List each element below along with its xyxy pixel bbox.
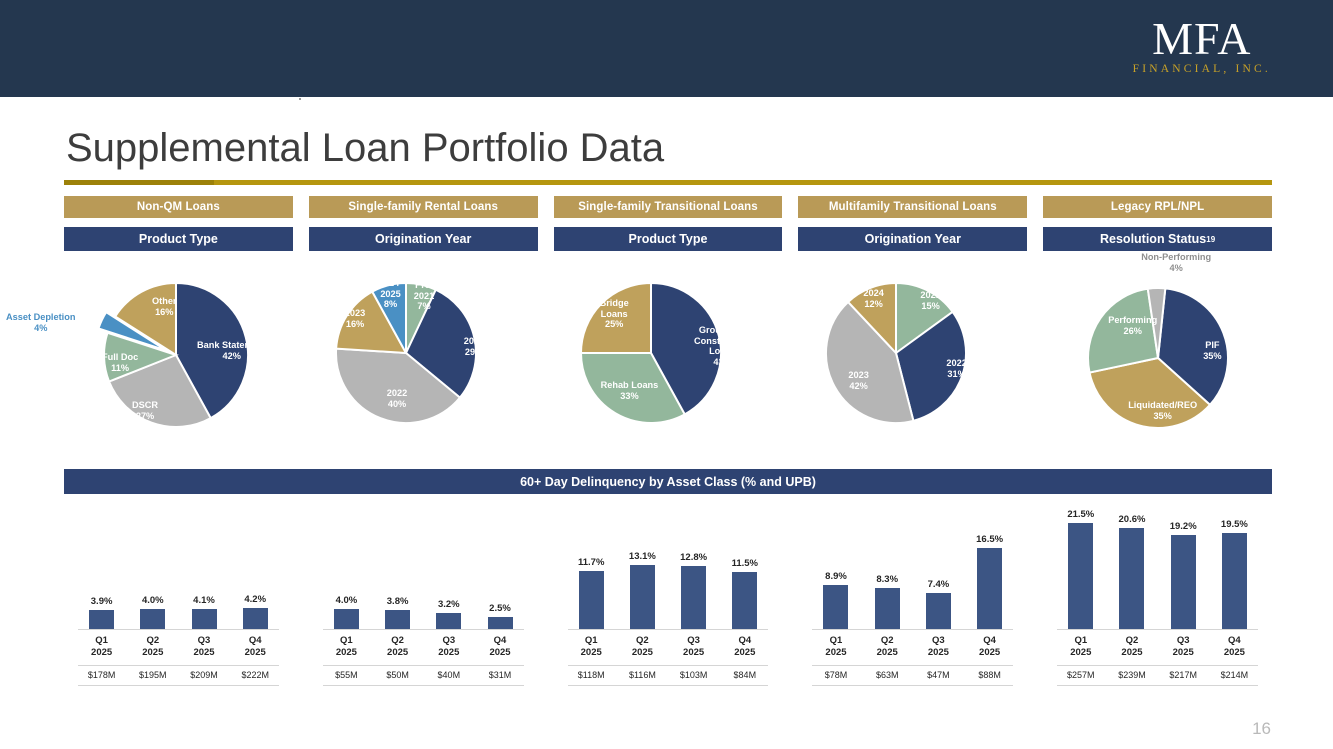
- bar-value-label: 19.5%: [1221, 519, 1248, 530]
- bar-rectangle: [436, 613, 461, 629]
- pie-slices: [543, 260, 793, 456]
- bar-rectangle: [334, 609, 359, 629]
- bar-rectangle: [1119, 528, 1144, 629]
- bar-column: 7.4%: [915, 500, 962, 629]
- bar-rectangle: [1171, 535, 1196, 629]
- bar-category-label: Q32025: [180, 635, 227, 659]
- bar-category-axis: Q12025Q22025Q32025Q42025: [812, 630, 1013, 659]
- bar-column: 20.6%: [1108, 500, 1155, 629]
- bar-rectangle: [579, 571, 604, 629]
- bar-rectangle: [488, 617, 513, 629]
- bar-column: 16.5%: [966, 500, 1013, 629]
- mfa-logo: MFA FINANCIAL, INC.: [1133, 16, 1271, 76]
- bar-category-label: Q12025: [568, 635, 615, 659]
- delinquency-bar-chart-3: 11.7%13.1%12.8%11.5%Q12025Q22025Q32025Q4…: [554, 500, 783, 700]
- bar-category-label: Q22025: [1108, 635, 1155, 659]
- bar-category-label: Q42025: [232, 635, 279, 659]
- bar-value-label: 3.9%: [91, 596, 113, 607]
- bar-value-label: 3.8%: [387, 596, 409, 607]
- bar-column: 4.1%: [180, 500, 227, 629]
- bar-value-label: 4.2%: [244, 594, 266, 605]
- upb-value: $50M: [374, 670, 421, 680]
- bar-column: 19.2%: [1160, 500, 1207, 629]
- upb-row: $257M$239M$217M$214M: [1057, 665, 1258, 686]
- bar-value-label: 7.4%: [928, 579, 950, 590]
- bar-rectangle: [875, 588, 900, 629]
- bar-column: 3.8%: [374, 500, 421, 629]
- bar-rectangle: [823, 585, 848, 629]
- delinquency-bar-chart-4: 8.9%8.3%7.4%16.5%Q12025Q22025Q32025Q4202…: [798, 500, 1027, 700]
- bar-rectangle: [243, 608, 268, 629]
- bar-value-label: 11.7%: [578, 557, 604, 568]
- bar-rectangle: [732, 572, 757, 629]
- upb-value: $209M: [180, 670, 227, 680]
- logo-tagline: FINANCIAL, INC.: [1133, 64, 1271, 76]
- upb-value: $118M: [568, 670, 615, 680]
- pie-slices: [1033, 260, 1283, 456]
- bar-rectangle: [192, 609, 217, 629]
- bar-category-label: Q12025: [323, 635, 370, 659]
- bar-value-label: 8.3%: [876, 574, 898, 585]
- bar-column: 19.5%: [1211, 500, 1258, 629]
- delinquency-bar-chart-1: 3.9%4.0%4.1%4.2%Q12025Q22025Q32025Q42025…: [64, 500, 293, 700]
- upb-value: $63M: [864, 670, 911, 680]
- bar-category-axis: Q12025Q22025Q32025Q42025: [323, 630, 524, 659]
- upb-value: $55M: [323, 670, 370, 680]
- bar-rectangle: [630, 565, 655, 629]
- bar-rectangle: [140, 609, 165, 629]
- bar-value-label: 16.5%: [976, 534, 1003, 545]
- bar-category-axis: Q12025Q22025Q32025Q42025: [1057, 630, 1258, 659]
- bar-rectangle: [1068, 523, 1093, 629]
- asset-class-column-4: Multifamily Transitional LoansOriginatio…: [798, 196, 1027, 251]
- asset-class-column-2: Single-family Rental LoansOrigination Ye…: [309, 196, 538, 251]
- bar-value-label: 21.5%: [1067, 509, 1094, 520]
- asset-class-label: Non-QM Loans: [64, 196, 293, 218]
- bar-rectangle: [89, 610, 114, 629]
- upb-value: $239M: [1108, 670, 1155, 680]
- page-title: Supplemental Loan Portfolio Data: [66, 126, 664, 171]
- bar-category-label: Q32025: [915, 635, 962, 659]
- top-banner: MFA FINANCIAL, INC.: [0, 0, 1333, 97]
- pie-slice: [581, 283, 651, 353]
- upb-value: $78M: [812, 670, 859, 680]
- bar-chart-row: 3.9%4.0%4.1%4.2%Q12025Q22025Q32025Q42025…: [64, 500, 1272, 700]
- upb-value: $178M: [78, 670, 125, 680]
- upb-row: $118M$116M$103M$84M: [568, 665, 769, 686]
- pie-slices: [298, 260, 548, 456]
- bar-value-label: 8.9%: [825, 571, 847, 582]
- asset-class-column-1: Non-QM LoansProduct Type: [64, 196, 293, 251]
- asset-class-label: Legacy RPL/NPL: [1043, 196, 1272, 218]
- bar-plot-area: 4.0%3.8%3.2%2.5%: [323, 500, 524, 630]
- bar-column: 8.9%: [812, 500, 859, 629]
- bar-value-label: 11.5%: [732, 558, 758, 569]
- asset-class-label: Single-family Rental Loans: [309, 196, 538, 218]
- bar-value-label: 4.0%: [142, 595, 164, 606]
- upb-value: $40M: [425, 670, 472, 680]
- bar-category-label: Q22025: [129, 635, 176, 659]
- breakdown-label: Product Type: [64, 227, 293, 251]
- pie-chart-2: Pre-20217%202129%202240%202316%2024-2025…: [309, 252, 538, 457]
- bar-category-label: Q42025: [476, 635, 523, 659]
- breakdown-label: Resolution Status19: [1043, 227, 1272, 251]
- bar-column: 13.1%: [619, 500, 666, 629]
- upb-row: $55M$50M$40M$31M: [323, 665, 524, 686]
- bar-column: 4.2%: [232, 500, 279, 629]
- upb-value: $214M: [1211, 670, 1258, 680]
- bar-value-label: 12.8%: [680, 552, 707, 563]
- pie-chart-4: 202115%202231%202342%202412%: [798, 252, 1027, 457]
- bar-value-label: 4.0%: [336, 595, 358, 606]
- gold-divider-rule: [64, 180, 1272, 185]
- pie-chart-5: PIF35%Liquidated/REO35%Performing26%Non-…: [1043, 252, 1272, 457]
- bar-column: 3.2%: [425, 500, 472, 629]
- asset-class-header-row: Non-QM LoansProduct TypeSingle-family Re…: [64, 196, 1272, 251]
- pie-chart-3: Ground-upConstructionLoans42%Rehab Loans…: [554, 252, 783, 457]
- bar-category-label: Q12025: [812, 635, 859, 659]
- bar-column: 4.0%: [129, 500, 176, 629]
- breakdown-label: Product Type: [554, 227, 783, 251]
- breakdown-label: Origination Year: [309, 227, 538, 251]
- upb-row: $78M$63M$47M$88M: [812, 665, 1013, 686]
- bar-rectangle: [977, 548, 1002, 629]
- pie-chart-1: Bank Statement42%DSCR27%Full Doc11%Asset…: [64, 252, 293, 457]
- bar-column: 3.9%: [78, 500, 125, 629]
- bar-category-label: Q42025: [1211, 635, 1258, 659]
- bar-value-label: 20.6%: [1119, 514, 1146, 525]
- bar-value-label: 4.1%: [193, 595, 215, 606]
- bar-column: 11.5%: [721, 500, 768, 629]
- bar-rectangle: [926, 593, 951, 629]
- bar-plot-area: 11.7%13.1%12.8%11.5%: [568, 500, 769, 630]
- breakdown-label: Origination Year: [798, 227, 1027, 251]
- asset-class-column-3: Single-family Transitional LoansProduct …: [554, 196, 783, 251]
- delinquency-bar-chart-2: 4.0%3.8%3.2%2.5%Q12025Q22025Q32025Q42025…: [309, 500, 538, 700]
- logo-wordmark: MFA: [1133, 16, 1271, 62]
- bar-plot-area: 21.5%20.6%19.2%19.5%: [1057, 500, 1258, 630]
- upb-value: $195M: [129, 670, 176, 680]
- pie-slices: [788, 260, 1038, 456]
- stray-artifact-dot: [299, 98, 301, 100]
- asset-class-column-5: Legacy RPL/NPLResolution Status19: [1043, 196, 1272, 251]
- asset-class-label: Multifamily Transitional Loans: [798, 196, 1027, 218]
- bar-column: 11.7%: [568, 500, 615, 629]
- page-number: 16: [1252, 719, 1271, 739]
- bar-category-label: Q32025: [1160, 635, 1207, 659]
- bar-category-label: Q22025: [619, 635, 666, 659]
- bar-column: 21.5%: [1057, 500, 1104, 629]
- bar-rectangle: [681, 566, 706, 629]
- upb-value: $217M: [1160, 670, 1207, 680]
- upb-value: $116M: [619, 670, 666, 680]
- bar-value-label: 3.2%: [438, 599, 460, 610]
- bar-value-label: 2.5%: [489, 603, 511, 614]
- upb-value: $103M: [670, 670, 717, 680]
- footnote-marker: 19: [1206, 235, 1215, 244]
- bar-category-axis: Q12025Q22025Q32025Q42025: [78, 630, 279, 659]
- bar-rectangle: [385, 610, 410, 629]
- upb-value: $47M: [915, 670, 962, 680]
- delinquency-bar-chart-5: 21.5%20.6%19.2%19.5%Q12025Q22025Q32025Q4…: [1043, 500, 1272, 700]
- bar-category-label: Q42025: [721, 635, 768, 659]
- upb-value: $31M: [476, 670, 523, 680]
- upb-value: $257M: [1057, 670, 1104, 680]
- upb-value: $88M: [966, 670, 1013, 680]
- bar-column: 8.3%: [864, 500, 911, 629]
- upb-value: $222M: [232, 670, 279, 680]
- bar-category-axis: Q12025Q22025Q32025Q42025: [568, 630, 769, 659]
- asset-class-label: Single-family Transitional Loans: [554, 196, 783, 218]
- bar-category-label: Q42025: [966, 635, 1013, 659]
- bar-column: 12.8%: [670, 500, 717, 629]
- pie-chart-row: Bank Statement42%DSCR27%Full Doc11%Asset…: [64, 252, 1272, 457]
- bar-value-label: 13.1%: [629, 551, 656, 562]
- bar-category-label: Q32025: [670, 635, 717, 659]
- bar-value-label: 19.2%: [1170, 521, 1197, 532]
- bar-column: 4.0%: [323, 500, 370, 629]
- bar-column: 2.5%: [476, 500, 523, 629]
- bar-category-label: Q32025: [425, 635, 472, 659]
- delinquency-banner: 60+ Day Delinquency by Asset Class (% an…: [64, 469, 1272, 494]
- bar-category-label: Q22025: [374, 635, 421, 659]
- upb-row: $178M$195M$209M$222M: [78, 665, 279, 686]
- bar-rectangle: [1222, 533, 1247, 629]
- bar-plot-area: 8.9%8.3%7.4%16.5%: [812, 500, 1013, 630]
- bar-category-label: Q12025: [1057, 635, 1104, 659]
- upb-value: $84M: [721, 670, 768, 680]
- bar-category-label: Q12025: [78, 635, 125, 659]
- pie-slice: [1088, 289, 1158, 373]
- pie-slices: [53, 260, 303, 456]
- bar-plot-area: 3.9%4.0%4.1%4.2%: [78, 500, 279, 630]
- bar-category-label: Q22025: [864, 635, 911, 659]
